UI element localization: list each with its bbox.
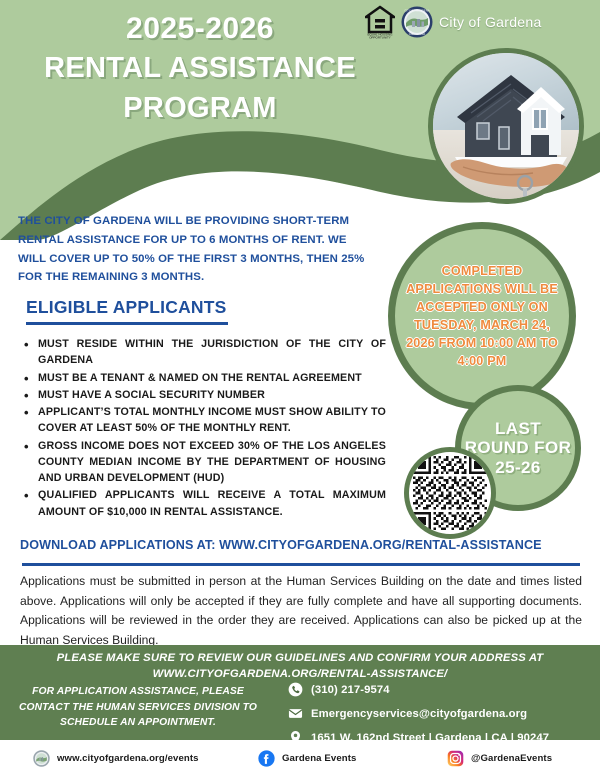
contact-email-row[interactable]: Emergencyservices@cityofgardena.org [288, 706, 598, 721]
social-instagram-label: @GardenaEvents [471, 753, 552, 764]
intro-paragraph: THE CITY OF GARDENA WILL BE PROVIDING SH… [18, 212, 370, 287]
city-seal-icon [33, 750, 50, 767]
footer-headline-line2[interactable]: WWW.CITYOFGARDENA.ORG/RENTAL-ASSISTANCE/ [28, 666, 572, 682]
list-item: MUST BE A TENANT & NAMED ON THE RENTAL A… [18, 370, 386, 386]
envelope-icon [288, 706, 303, 721]
city-of-gardena-seal-icon: CITY OF GARDENA CALIFORNIA [401, 6, 433, 38]
deadline-badge-text: COMPLETED APPLICATIONS WILL BE ACCEPTED … [395, 262, 569, 371]
list-item: APPLICANT’S TOTAL MONTHLY INCOME MUST SH… [18, 404, 386, 437]
download-underline [22, 563, 580, 566]
list-item: MUST HAVE A SOCIAL SECURITY NUMBER [18, 387, 386, 403]
eligible-applicants-list: MUST RESIDE WITHIN THE JURISDICTION OF T… [18, 336, 386, 521]
social-website-label: www.cityofgardena.org/events [57, 753, 199, 764]
phone-number: (310) 217-9574 [311, 684, 390, 696]
city-name-label: City of Gardena [439, 14, 542, 30]
submission-notice-paragraph: Applications must be submitted in person… [20, 572, 582, 650]
list-item: MUST RESIDE WITHIN THE JURISDICTION OF T… [18, 336, 386, 369]
social-instagram[interactable]: @GardenaEvents [447, 750, 552, 767]
social-website[interactable]: www.cityofgardena.org/events [33, 750, 199, 767]
email-address: Emergencyservices@cityofgardena.org [311, 708, 527, 720]
social-facebook[interactable]: Gardena Events [258, 750, 356, 767]
phone-icon [288, 682, 303, 697]
eligible-heading-underline [26, 322, 228, 325]
application-assistance-note: FOR APPLICATION ASSISTANCE, PLEASE CONTA… [18, 684, 258, 731]
title-year: 2025-2026 [20, 12, 380, 46]
download-applications-link[interactable]: DOWNLOAD APPLICATIONS AT: WWW.CITYOFGARD… [20, 538, 582, 552]
title-main-line1: RENTAL ASSISTANCE [20, 50, 380, 86]
qr-code-icon[interactable] [413, 456, 487, 530]
deadline-badge: COMPLETED APPLICATIONS WILL BE ACCEPTED … [388, 222, 576, 410]
eligible-applicants-heading: ELIGIBLE APPLICANTS [26, 297, 227, 318]
qr-code-badge[interactable] [404, 447, 496, 539]
instagram-icon [447, 750, 464, 767]
page-title: 2025-2026 RENTAL ASSISTANCE PROGRAM [20, 12, 380, 126]
list-item: GROSS INCOME DOES NOT EXCEED 30% OF THE … [18, 438, 386, 487]
footer-headline-line1: PLEASE MAKE SURE TO REVIEW OUR GUIDELINE… [28, 650, 572, 666]
title-main-line2: PROGRAM [20, 90, 380, 126]
hand-holding-house-icon [449, 61, 573, 197]
flyer-root: 2025-2026 RENTAL ASSISTANCE PROGRAM EQUA… [0, 0, 600, 776]
svg-text:CITY OF GARDENA: CITY OF GARDENA [404, 9, 429, 13]
svg-text:OPPORTUNITY: OPPORTUNITY [369, 36, 391, 40]
list-item: QUALIFIED APPLICANTS WILL RECEIVE A TOTA… [18, 487, 386, 520]
footer-headline: PLEASE MAKE SURE TO REVIEW OUR GUIDELINE… [28, 650, 572, 683]
svg-text:CALIFORNIA: CALIFORNIA [409, 32, 426, 36]
social-facebook-label: Gardena Events [282, 753, 356, 764]
equal-housing-opportunity-icon: EQUAL HOUSING OPPORTUNITY [365, 5, 395, 39]
facebook-icon [258, 750, 275, 767]
top-logo-group: EQUAL HOUSING OPPORTUNITY CITY OF GARDEN… [365, 5, 542, 39]
house-photo-circle [428, 48, 584, 204]
contact-phone-row[interactable]: (310) 217-9574 [288, 682, 598, 697]
social-strip: www.cityofgardena.org/events Gardena Eve… [0, 740, 600, 776]
